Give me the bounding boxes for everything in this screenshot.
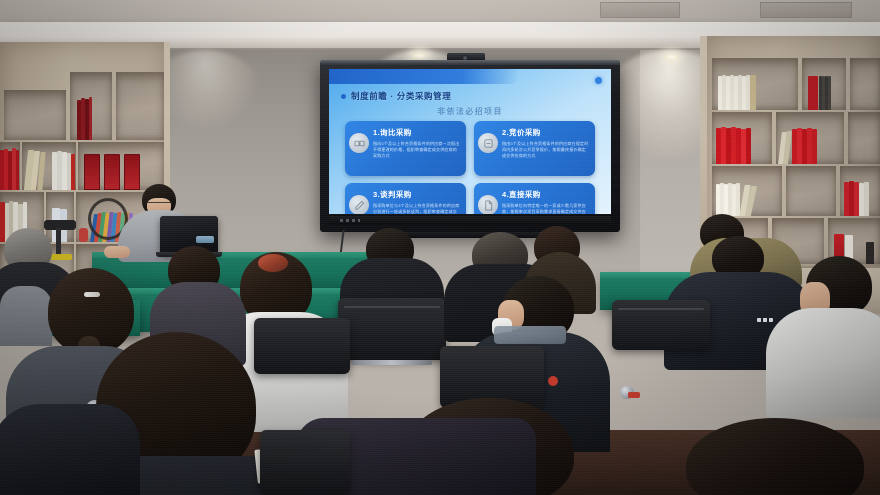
display-bezel [320, 60, 620, 65]
card-title: 4.直接采购 [502, 189, 589, 200]
slide-subtitle: 非依法必招项目 [329, 106, 611, 117]
jacket-logo [757, 318, 773, 322]
display-stand [400, 232, 540, 238]
card-description: 指采购单位与3个及以上符合资格条件的供应商分别进行一轮或多轮谈判，组织审查确定成… [373, 203, 460, 214]
collar [494, 326, 566, 344]
shelf-cell [22, 142, 76, 190]
shelf-cell [712, 112, 772, 164]
chair-back[interactable] [260, 430, 350, 495]
ceiling-vent [760, 2, 852, 18]
attendee-front-shoulder [0, 404, 140, 495]
ceiling-lamp [413, 53, 426, 59]
shelf-cell [70, 72, 112, 140]
shelf-cell [78, 142, 164, 190]
glasses-icon [146, 202, 172, 208]
slide-header: 制度前瞻 · 分类采购管理 [341, 90, 451, 102]
equipment-stand [56, 228, 61, 256]
card-description: 指向3个及以上符合资格条件的供应商一次报出不得更改的价格，组织审查确定成交供应商… [373, 141, 460, 160]
card-title: 2.竞价采购 [502, 127, 589, 138]
shelf-cell [802, 58, 846, 110]
shelf-cell [712, 166, 782, 216]
presenter-hands [104, 246, 130, 258]
slide-accent-band [329, 69, 519, 84]
shelf-cell [848, 112, 880, 164]
card-description: 指采购单位向特定唯一的一家或少数几家供应商，按照单次项目采购需求直接确定成交供应… [502, 203, 589, 214]
slide-corner-dot [595, 77, 602, 84]
shelf-cell [712, 58, 798, 110]
card-title: 1.询比采购 [373, 127, 460, 138]
ir-receiver-icon [340, 219, 360, 222]
shelf-cell [840, 166, 880, 216]
slide-card: 2.竞价采购 指由3个及以上符合资格条件的供应商在规定时间内多轮次公开竞争报价，… [474, 121, 595, 176]
shelf-cell [786, 166, 836, 216]
slide-card: 1.询比采购 指向3个及以上符合资格条件的供应商一次报出不得更改的价格，组织审查… [345, 121, 466, 176]
attendee-shoulder [0, 286, 52, 346]
compare-icon [349, 133, 369, 153]
hair-scrunchie [258, 254, 288, 272]
attendee-body [766, 308, 880, 418]
bullet-icon [341, 94, 346, 99]
meeting-room-photo: 制度前瞻 · 分类采购管理 非依法必招项目 1.询比采购 指向3个及以上符合资格… [0, 0, 880, 495]
ceiling-vent [600, 2, 680, 18]
slide-card-grid: 1.询比采购 指向3个及以上符合资格条件的供应商一次报出不得更改的价格，组织审查… [345, 121, 595, 214]
slide-surface: 制度前瞻 · 分类采购管理 非依法必招项目 1.询比采购 指向3个及以上符合资格… [329, 69, 611, 214]
shelf-cell [0, 142, 20, 190]
card-title: 3.谈判采购 [373, 189, 460, 200]
display-screen[interactable]: 制度前瞻 · 分类采购管理 非依法必招项目 1.询比采购 指向3个及以上符合资格… [320, 60, 620, 232]
display-chin [329, 216, 611, 225]
pen-icon [349, 195, 369, 214]
chair-highlight [618, 308, 704, 310]
hair-clip [84, 292, 100, 297]
shelf-cell [776, 112, 844, 164]
jacket-badge [548, 376, 558, 386]
ceiling-lamp [665, 54, 678, 60]
slide-card: 3.谈判采购 指采购单位与3个及以上符合资格条件的供应商分别进行一轮或多轮谈判，… [345, 183, 466, 214]
gavel-icon [478, 133, 498, 153]
shelf-cell [4, 90, 66, 140]
slide-card: 4.直接采购 指采购单位向特定唯一的一家或少数几家供应商，按照单次项目采购需求直… [474, 183, 595, 214]
slide-header-text: 制度前瞻 · 分类采购管理 [351, 90, 451, 102]
document-icon [478, 195, 498, 214]
chair-lever[interactable] [628, 392, 640, 398]
shelf-cell [850, 58, 880, 110]
shelf-cell [116, 72, 164, 140]
laptop-sticker [196, 236, 214, 243]
card-description: 指由3个及以上符合资格条件的供应商在规定时间内多轮次公开竞争报价，按照最终报价确… [502, 141, 589, 160]
chair-back[interactable] [254, 318, 350, 374]
chair-base [352, 360, 432, 365]
presentation-slide: 制度前瞻 · 分类采购管理 非依法必招项目 1.询比采购 指向3个及以上符合资格… [329, 69, 611, 214]
chair-highlight [344, 306, 440, 308]
